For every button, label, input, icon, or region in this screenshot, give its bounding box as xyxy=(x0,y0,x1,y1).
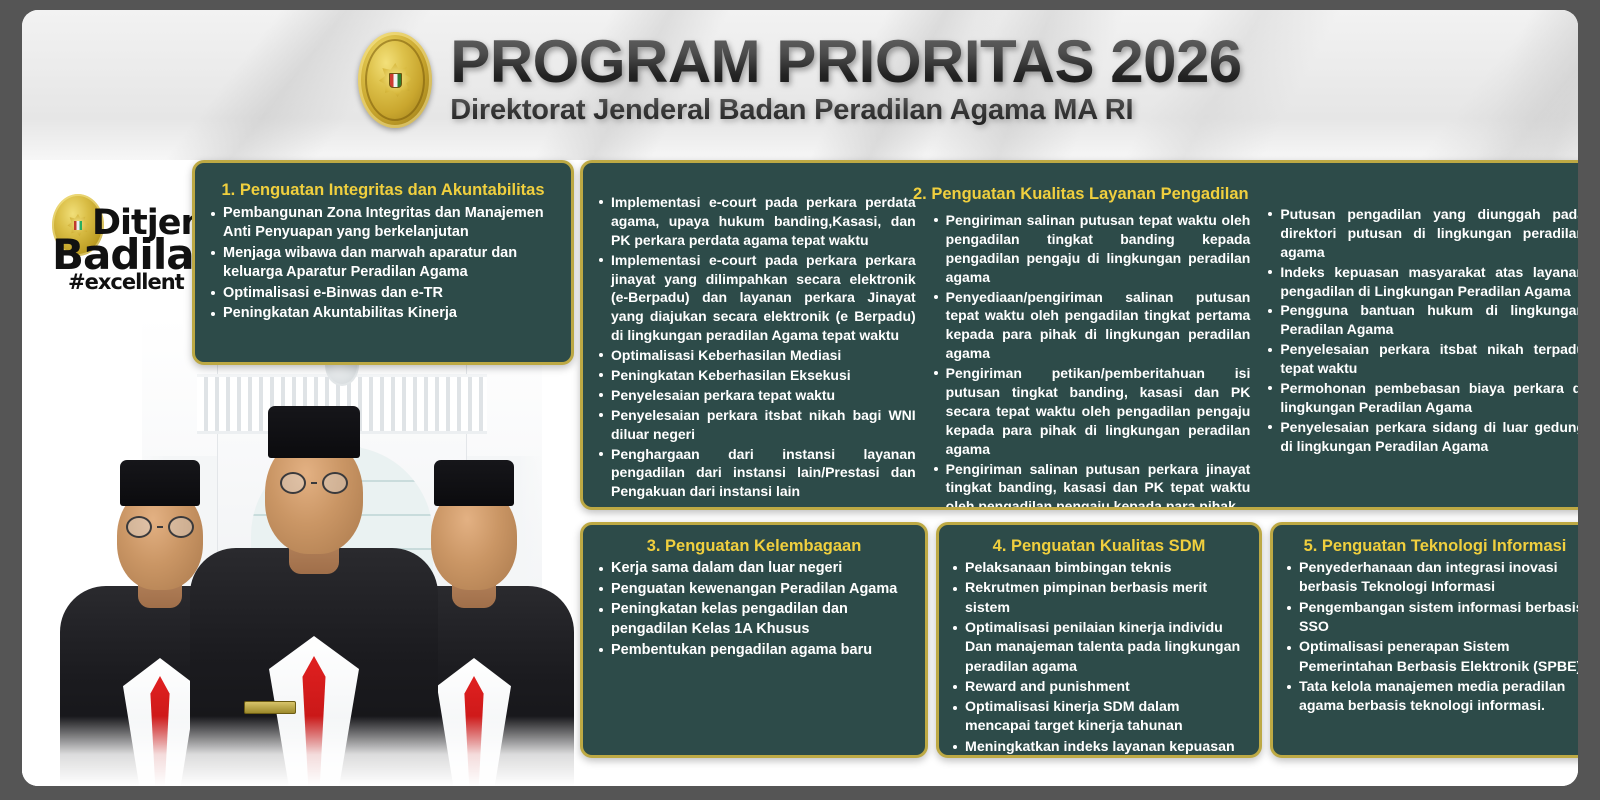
list-item: Penguatan kewenangan Peradilan Agama xyxy=(597,580,911,600)
list-item: Pembentukan pengadilan agama baru xyxy=(597,641,911,661)
list-item: Pengguna bantuan hukum di lingkungan Per… xyxy=(1266,301,1578,339)
list-item: Optimalisasi penilaian kinerja individu … xyxy=(951,619,1247,677)
list-item: Kerja sama dalam dan luar negeri xyxy=(597,559,911,579)
list-item: Pelaksanaan bimbingan teknis xyxy=(951,559,1247,578)
list-item: Penghargaan dari instansi layanan pengad… xyxy=(597,445,916,502)
list-item: Peningkatan kelas pengadilan dan pengadi… xyxy=(597,600,911,639)
glasses-lens-right xyxy=(322,472,348,494)
list-item: Penyelesaian perkara itsbat nikah bagi W… xyxy=(597,406,916,444)
photo-bottom-fade xyxy=(22,716,582,786)
list-item: Optimalisasi kinerja SDM dalam mencapai … xyxy=(951,698,1247,737)
page-title: PROGRAM PRIORITAS 2026 xyxy=(450,33,1241,92)
list-item: Pengiriman salinan putusan tepat waktu o… xyxy=(932,211,1251,287)
list-item: Rekrutmen pimpinan berbasis merit sistem xyxy=(951,579,1247,618)
poster-header: PROGRAM PRIORITAS 2026 Direktorat Jender… xyxy=(22,10,1578,150)
priority-card-2-column-3: Putusan pengadilan yang diunggah pada di… xyxy=(1266,205,1578,497)
official-right-peci-cap xyxy=(434,460,514,506)
priority-card-1-list: Pembangunan Zona Integritas dan Manajeme… xyxy=(209,204,557,324)
priority-card-2-column-2: Pengiriman salinan putusan tepat waktu o… xyxy=(932,211,1251,497)
list-item: Implementasi e-court pada perkara perdat… xyxy=(597,193,916,250)
list-item: Pengiriman petikan/pemberitahuan isi put… xyxy=(932,364,1251,458)
list-item: Peningkatan Keberhasilan Eksekusi xyxy=(597,366,916,385)
list-item: Pengiriman salinan putusan perkara jinay… xyxy=(932,460,1251,510)
badilag-seal-shield-shape xyxy=(74,221,82,230)
emblem-shield-shape xyxy=(389,73,402,88)
list-item: Optimalisasi Keberhasilan Mediasi xyxy=(597,346,916,365)
glasses-bridge xyxy=(311,482,317,485)
mahkamah-agung-emblem-icon xyxy=(358,32,432,128)
page-subtitle: Direktorat Jenderal Badan Peradilan Agam… xyxy=(450,94,1133,127)
priority-card-5[interactable]: 5. Penguatan Teknologi Informasi Penyede… xyxy=(1270,522,1578,758)
official-center-peci-cap xyxy=(268,406,360,458)
priority-card-2-column-1: Implementasi e-court pada perkara perdat… xyxy=(597,193,916,497)
list-item: Implementasi e-court pada perkara perkar… xyxy=(597,251,916,345)
list-item: Tata kelola manajemen media peradilan ag… xyxy=(1285,678,1578,717)
list-item: Indeks kepuasan masyarakat atas layanan … xyxy=(1266,263,1578,301)
priority-card-2-list-1: Implementasi e-court pada perkara perdat… xyxy=(597,193,916,501)
priority-card-1[interactable]: 1. Penguatan Integritas dan Akuntabilita… xyxy=(192,160,574,365)
priority-card-3-title: 3. Penguatan Kelembagaan xyxy=(597,537,911,556)
poster-outer-frame: PROGRAM PRIORITAS 2026 Direktorat Jender… xyxy=(0,0,1600,800)
list-item: Meningkatkan indeks layanan kepuasan SDM xyxy=(951,738,1247,758)
list-item: Reward and punishment xyxy=(951,678,1247,697)
list-item: Pembangunan Zona Integritas dan Manajeme… xyxy=(209,204,557,243)
priority-card-2-list-3: Putusan pengadilan yang diunggah pada di… xyxy=(1266,205,1578,456)
list-item: Penyelesaian perkara itsbat nikah terpad… xyxy=(1266,340,1578,378)
list-item: Permohonan pembebasan biaya perkara di l… xyxy=(1266,379,1578,417)
list-item: Penyediaan/pengiriman salinan putusan te… xyxy=(932,288,1251,364)
list-item: Putusan pengadilan yang diunggah pada di… xyxy=(1266,205,1578,262)
list-item: Penyelesaian perkara sidang di luar gedu… xyxy=(1266,418,1578,456)
priority-card-2-list-2: Pengiriman salinan putusan tepat waktu o… xyxy=(932,211,1251,510)
priority-card-2[interactable]: 2. Penguatan Kualitas Layanan Pengadilan… xyxy=(580,160,1578,510)
logo-line-excellent: #excellent xyxy=(68,272,184,293)
official-left-glasses-icon xyxy=(126,516,194,538)
header-text-block: PROGRAM PRIORITAS 2026 Direktorat Jender… xyxy=(450,33,1241,127)
priority-card-5-list: Penyederhanaan dan integrasi inovasi ber… xyxy=(1285,559,1578,717)
list-item: Peningkatan Akuntabilitas Kinerja xyxy=(209,304,557,323)
priority-card-4-title: 4. Penguatan Kualitas SDM xyxy=(951,537,1247,556)
glasses-lens-left xyxy=(280,472,306,494)
priority-card-4[interactable]: 4. Penguatan Kualitas SDM Pelaksanaan bi… xyxy=(936,522,1262,758)
ditjen-badilag-logo: Ditjen Badilag #excellent xyxy=(46,192,196,302)
official-left-peci-cap xyxy=(120,460,200,506)
priority-card-5-title: 5. Penguatan Teknologi Informasi xyxy=(1285,537,1578,556)
glasses-lens-left xyxy=(126,516,152,538)
glasses-bridge xyxy=(157,526,163,529)
official-center-glasses-icon xyxy=(280,472,348,494)
list-item: Menjaga wibawa dan marwah aparatur dan k… xyxy=(209,244,557,283)
list-item: Optimalisasi penerapan Sistem Pemerintah… xyxy=(1285,638,1578,677)
official-center-nameplate xyxy=(244,701,296,714)
priority-card-4-list: Pelaksanaan bimbingan teknis Rekrutmen p… xyxy=(951,559,1247,758)
emblem-star-shape xyxy=(378,63,412,97)
poster-page: PROGRAM PRIORITAS 2026 Direktorat Jender… xyxy=(22,10,1578,786)
priority-card-1-title: 1. Penguatan Integritas dan Akuntabilita… xyxy=(209,181,557,200)
priority-card-2-columns: Implementasi e-court pada perkara perdat… xyxy=(597,173,1578,497)
list-item: Penyederhanaan dan integrasi inovasi ber… xyxy=(1285,559,1578,598)
priority-card-3[interactable]: 3. Penguatan Kelembagaan Kerja sama dala… xyxy=(580,522,928,758)
list-item: Penyelesaian perkara tepat waktu xyxy=(597,386,916,405)
list-item: Optimalisasi e-Binwas dan e-TR xyxy=(209,284,557,303)
list-item: Pengembangan sistem informasi berbasis S… xyxy=(1285,599,1578,638)
priority-card-3-list: Kerja sama dalam dan luar negeri Penguat… xyxy=(597,559,911,661)
